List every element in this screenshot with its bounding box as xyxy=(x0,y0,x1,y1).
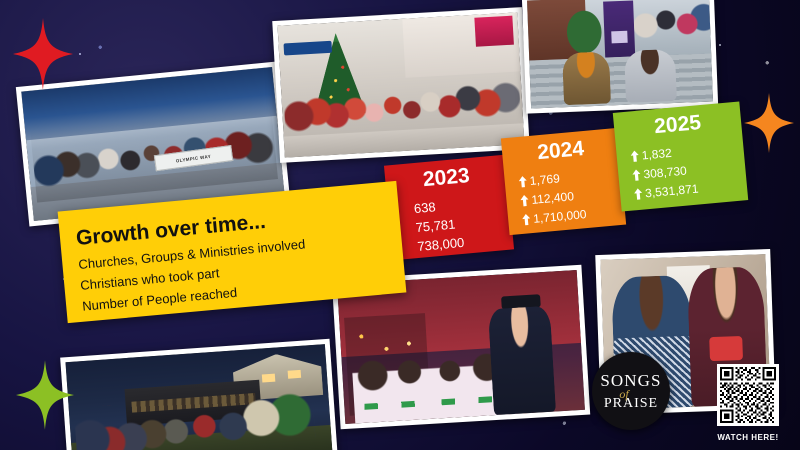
qr-code-box[interactable] xyxy=(717,364,779,426)
stat-row-2024-2: 1,710,000 xyxy=(522,207,587,227)
stat-row-2025-2: 3,531,871 xyxy=(634,182,699,202)
stat-row-2023-1: 75,781 xyxy=(415,217,456,236)
sparkle-star-orange xyxy=(744,92,794,154)
up-arrow-icon xyxy=(630,150,639,163)
infographic-canvas: OLYMPIC WAY xyxy=(0,0,800,450)
qr-code-icon[interactable] xyxy=(720,367,776,423)
watch-here-qr[interactable]: WATCH HERE! xyxy=(716,364,780,442)
sparkle-star-red xyxy=(12,18,74,90)
stat-row-2024-0: 1,769 xyxy=(518,171,560,189)
stat-row-2025-0: 1,832 xyxy=(630,146,672,164)
stat-year-2025: 2025 xyxy=(613,107,742,142)
stat-column-2025: 2025 1,832 308,730 3,531,871 xyxy=(613,101,748,211)
poundland-sign xyxy=(283,41,332,56)
stat-row-2023-2: 738,000 xyxy=(417,235,465,254)
stat-value-2023-0: 638 xyxy=(413,199,436,216)
stat-year-2023: 2023 xyxy=(384,161,508,196)
stat-value-2024-0: 1,769 xyxy=(529,171,560,188)
stat-value-2025-0: 1,832 xyxy=(641,146,672,163)
logo-line-praise: PRAISE xyxy=(604,397,658,411)
qr-label: WATCH HERE! xyxy=(716,433,780,442)
stat-row-2024-1: 112,400 xyxy=(520,189,575,208)
stat-value-2024-2: 1,710,000 xyxy=(533,207,587,226)
up-arrow-icon xyxy=(520,194,529,207)
stat-value-2024-1: 112,400 xyxy=(531,189,575,207)
stat-row-2023-0: 638 xyxy=(413,199,436,216)
stat-value-2023-2: 738,000 xyxy=(417,235,465,254)
olympic-way-sign-text: OLYMPIC WAY xyxy=(175,154,211,164)
sparkle-star-green xyxy=(16,360,74,430)
share-your-story-banner xyxy=(604,1,635,58)
songs-of-praise-logo: SONGS of PRAISE xyxy=(592,352,670,430)
logo-line-songs: SONGS xyxy=(600,372,661,389)
up-arrow-icon xyxy=(632,169,641,182)
up-arrow-icon xyxy=(634,188,643,201)
stat-value-2025-1: 308,730 xyxy=(643,164,687,182)
stat-row-2025-1: 308,730 xyxy=(632,164,687,183)
stat-column-2024: 2024 1,769 112,400 1,710,000 xyxy=(501,128,626,235)
up-arrow-icon xyxy=(522,213,531,226)
photo-shopping-centre-choir xyxy=(272,7,530,163)
stat-value-2023-1: 75,781 xyxy=(415,217,456,236)
stat-year-2024: 2024 xyxy=(501,134,620,169)
stat-column-2023: 2023 638 75,781 738,000 xyxy=(384,155,514,261)
photo-night-carols-lorry xyxy=(60,339,338,450)
photo-outdoor-steps-event xyxy=(522,0,718,114)
up-arrow-icon xyxy=(518,175,527,188)
stat-value-2025-2: 3,531,871 xyxy=(645,182,699,201)
